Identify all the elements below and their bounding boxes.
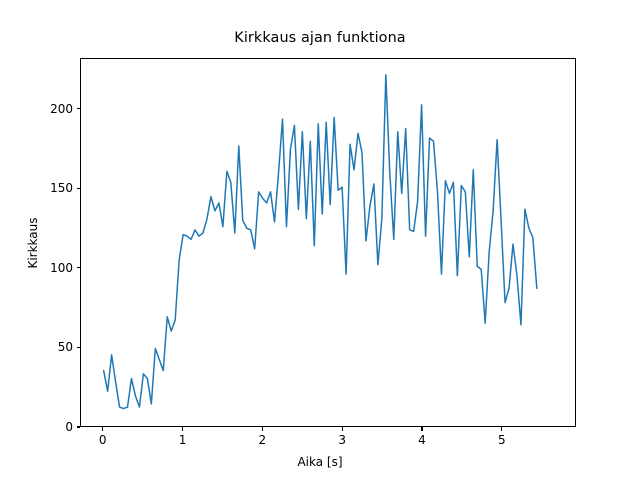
x-tick-label: 3: [338, 433, 346, 447]
x-tick-label: 2: [259, 433, 267, 447]
brightness-series-line: [104, 75, 537, 409]
x-axis-label: Aika [s]: [0, 455, 640, 469]
y-tick-label: 200: [20, 102, 73, 116]
y-tick-label: 0: [20, 420, 73, 434]
plot-area: [80, 58, 576, 427]
x-tick-mark: [342, 427, 343, 431]
x-tick-mark: [501, 427, 502, 431]
x-tick-label: 0: [99, 433, 107, 447]
y-tick-label: 50: [20, 340, 73, 354]
x-tick-label: 1: [179, 433, 187, 447]
data-line-chart: [81, 59, 575, 426]
x-tick-label: 5: [498, 433, 506, 447]
chart-title: Kirkkaus ajan funktiona: [0, 30, 640, 46]
y-tick-label: 100: [20, 261, 73, 275]
y-tick-label: 150: [20, 181, 73, 195]
x-tick-mark: [102, 427, 103, 431]
x-tick-mark: [262, 427, 263, 431]
x-tick-label: 4: [418, 433, 426, 447]
matplotlib-figure: Kirkkaus ajan funktiona Kirkkaus Aika [s…: [0, 0, 640, 480]
x-tick-mark: [182, 427, 183, 431]
x-tick-mark: [421, 427, 422, 431]
